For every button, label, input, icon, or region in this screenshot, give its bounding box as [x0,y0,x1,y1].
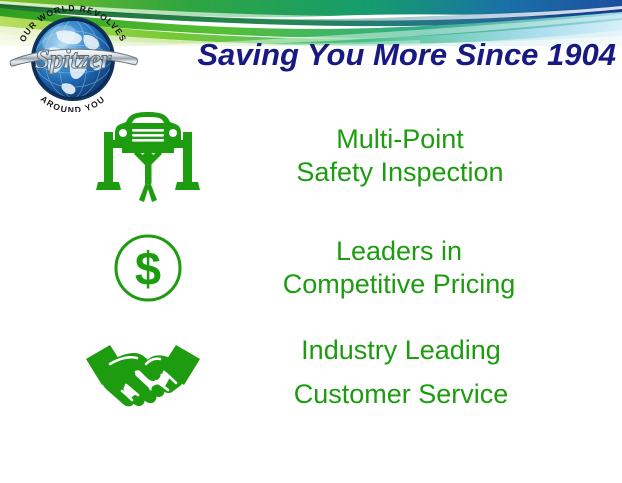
feature-text-customer-service: Industry Leading Customer Service [208,328,588,416]
feature-row-safety-inspection: Multi-Point Safety Inspection [88,108,588,204]
car-lift-inspection-icon [88,110,208,202]
spitzer-globe-logo: OUR WORLD REVOLVES AROUND YOU Spitzer [4,2,142,112]
svg-text:$: $ [135,242,161,295]
feature-line: Competitive Pricing [210,268,588,301]
handshake-icon [78,337,208,407]
feature-text-competitive-pricing: Leaders in Competitive Pricing [208,235,588,301]
dollar-circle-icon: $ [88,232,208,304]
feature-line: Multi-Point [212,123,588,156]
feature-line: Safety Inspection [212,156,588,189]
page-title: Saving You More Since 1904 [150,38,616,72]
feature-row-customer-service: Industry Leading Customer Service [78,328,588,416]
logo-wordmark: Spitzer [35,44,112,74]
slide-canvas: OUR WORLD REVOLVES AROUND YOU Spitzer Sa… [0,0,622,483]
feature-row-competitive-pricing: $ Leaders in Competitive Pricing [88,222,588,314]
feature-line: Industry Leading [214,328,588,372]
feature-text-safety-inspection: Multi-Point Safety Inspection [208,123,588,189]
feature-line: Customer Service [214,372,588,416]
feature-line: Leaders in [210,235,588,268]
